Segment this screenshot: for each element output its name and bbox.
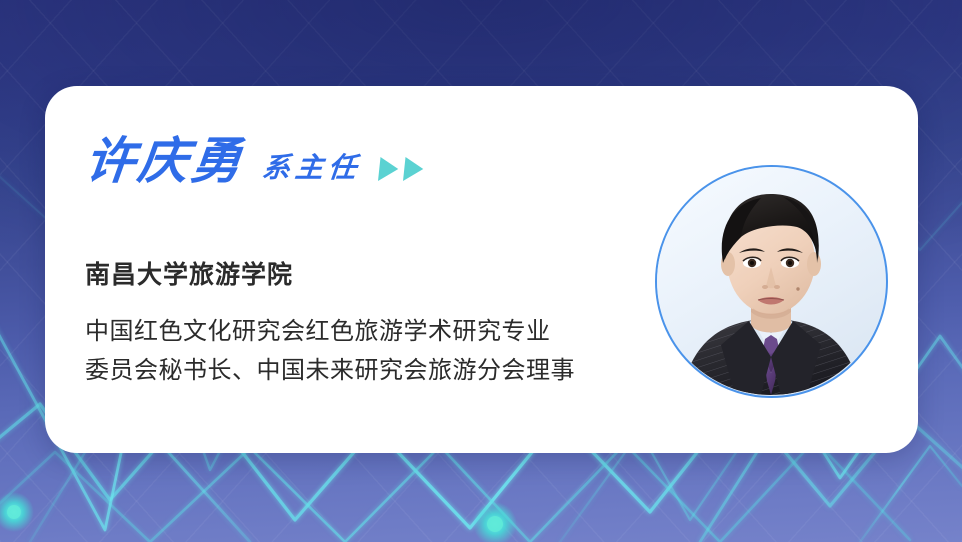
speaker-credential-line: 中国红色文化研究会红色旅游学术研究专业 xyxy=(85,312,685,351)
speaker-card: 许庆勇 系主任 南昌大学旅游学院 中国红色文化研究会红色旅游学术研究专业 委员会… xyxy=(45,86,918,453)
play-triangle-right-icon xyxy=(403,157,425,181)
speaker-organization: 南昌大学旅游学院 xyxy=(85,261,685,290)
speaker-portrait xyxy=(655,165,888,398)
speaker-role-title: 系主任 xyxy=(260,154,362,186)
speaker-credential-line: 委员会秘书长、中国未来研究会旅游分会理事 xyxy=(85,351,685,390)
speaker-portrait-image xyxy=(657,167,885,395)
arrow-marker-group xyxy=(377,157,424,186)
speaker-headline: 许庆勇 系主任 xyxy=(85,136,423,186)
speaker-affiliation-block: 南昌大学旅游学院 中国红色文化研究会红色旅游学术研究专业 委员会秘书长、中国未来… xyxy=(85,261,685,390)
speaker-name: 许庆勇 xyxy=(82,136,246,186)
speaker-credentials: 中国红色文化研究会红色旅游学术研究专业 委员会秘书长、中国未来研究会旅游分会理事 xyxy=(85,312,685,390)
speaker-profile-card-banner: 许庆勇 系主任 南昌大学旅游学院 中国红色文化研究会红色旅游学术研究专业 委员会… xyxy=(0,0,962,542)
play-triangle-right-icon xyxy=(378,157,400,181)
